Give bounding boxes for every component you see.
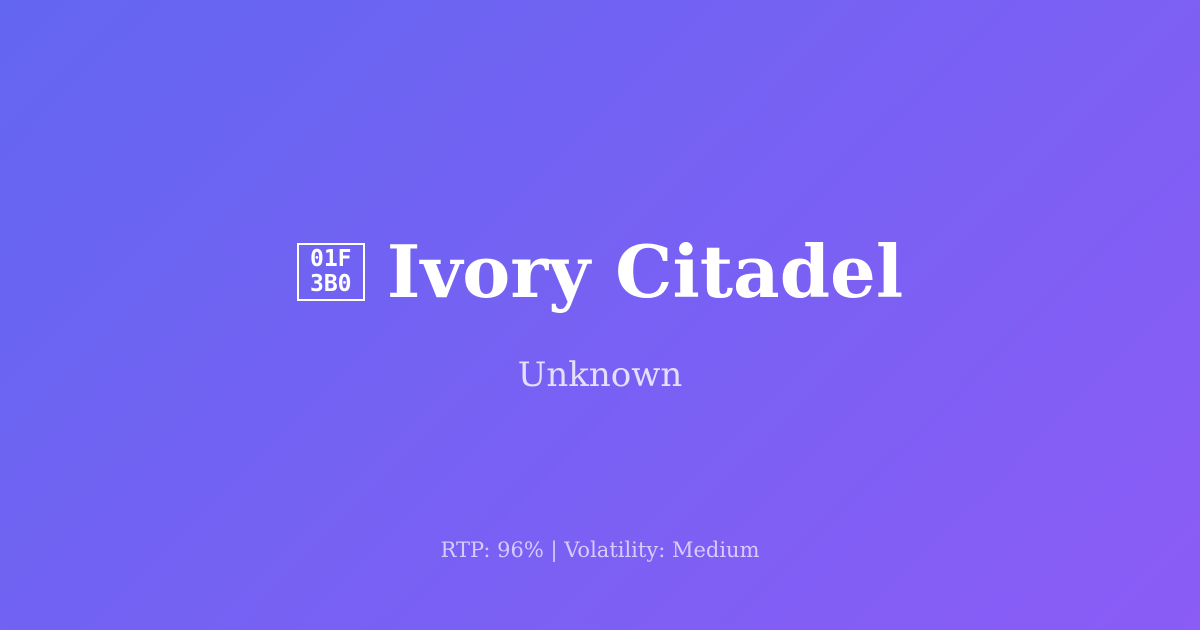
provider-subtitle: Unknown bbox=[518, 355, 683, 396]
hero-row: 01F 3B0 Ivory Citadel bbox=[297, 234, 903, 310]
game-preview-card: 01F 3B0 Ivory Citadel Unknown RTP: 96% |… bbox=[0, 0, 1200, 630]
slot-machine-icon: 01F 3B0 bbox=[297, 243, 365, 301]
slot-machine-icon-codepoint-top: 01F bbox=[310, 247, 352, 272]
slot-machine-icon-codepoint-bottom: 3B0 bbox=[310, 272, 352, 297]
game-stats-line: RTP: 96% | Volatility: Medium bbox=[0, 537, 1200, 564]
page-title: Ivory Citadel bbox=[387, 234, 903, 310]
